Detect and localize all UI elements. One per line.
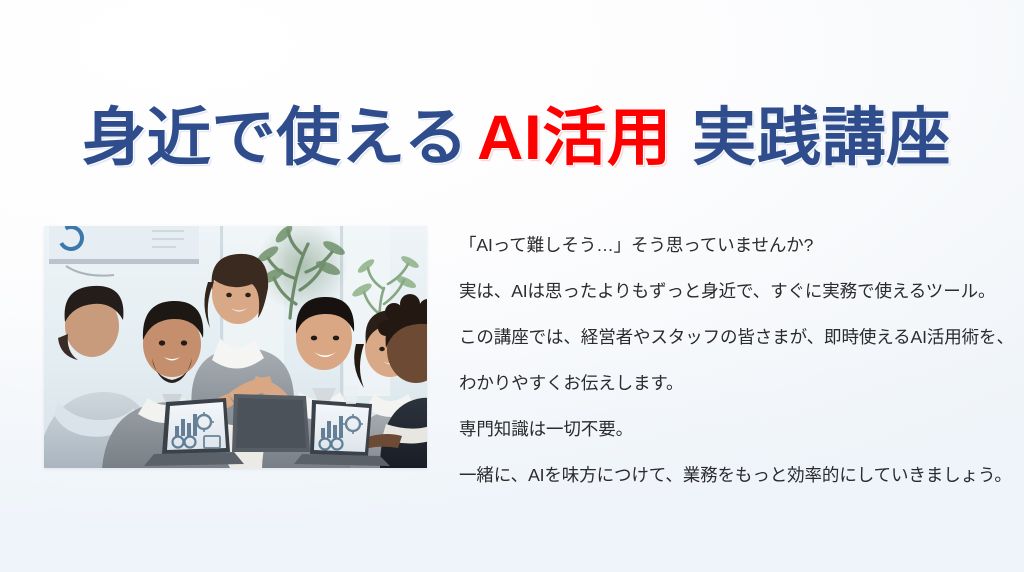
title-part-blue-leading: 身近で使える	[82, 107, 469, 170]
title-part-red-highlight: AI活用	[477, 107, 672, 170]
meeting-photo	[44, 226, 427, 468]
body-line: わかりやすくお伝えします。	[459, 360, 1004, 406]
slide-canvas: 身近で使える AI活用 実践講座	[0, 0, 1024, 572]
title-part-blue-trailing: 実践講座	[692, 107, 951, 170]
body-line: 一緒に、AIを味方につけて、業務をもっと効率的にしていきましょう。	[459, 452, 1004, 498]
body-line: 実は、AIは思ったよりもずっと身近で、すぐに実務で使えるツール。	[459, 268, 1004, 314]
body-copy: 「AIって難しそう…」そう思っていませんか? 実は、AIは思ったよりもずっと身近…	[459, 222, 1004, 498]
body-line: 「AIって難しそう…」そう思っていませんか?	[459, 222, 1004, 268]
page-title: 身近で使える AI活用 実践講座	[82, 96, 962, 180]
body-line: この講座では、経営者やスタッフの皆さまが、即時使えるAI活用術を、	[459, 314, 1004, 360]
body-line: 専門知識は一切不要。	[459, 406, 1004, 452]
meeting-photo-illustration	[44, 226, 427, 468]
